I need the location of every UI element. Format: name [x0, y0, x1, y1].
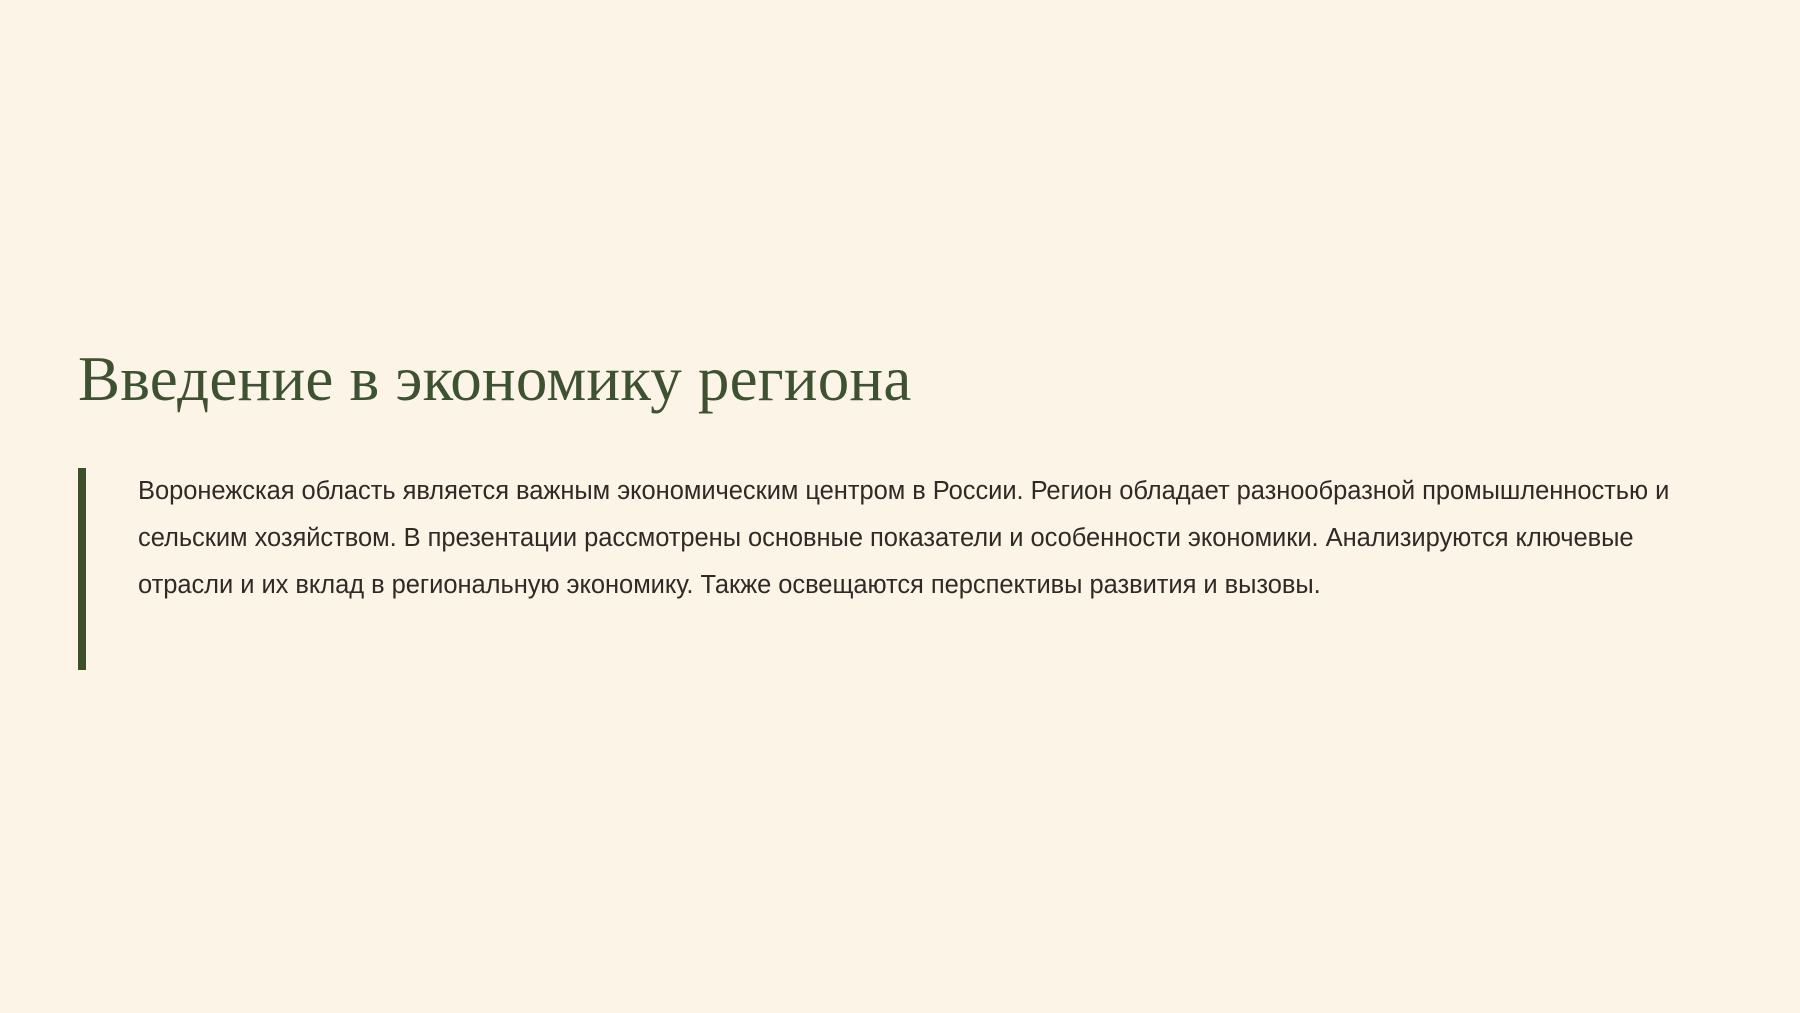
slide-title: Введение в экономику региона: [78, 345, 1738, 413]
slide-content: Введение в экономику региона Воронежская…: [78, 345, 1738, 670]
slide-body-text: Воронежская область является важным экон…: [138, 468, 1713, 609]
body-block: Воронежская область является важным экон…: [78, 468, 1738, 670]
presentation-slide: Введение в экономику региона Воронежская…: [0, 0, 1800, 1013]
accent-bar: [78, 468, 86, 670]
